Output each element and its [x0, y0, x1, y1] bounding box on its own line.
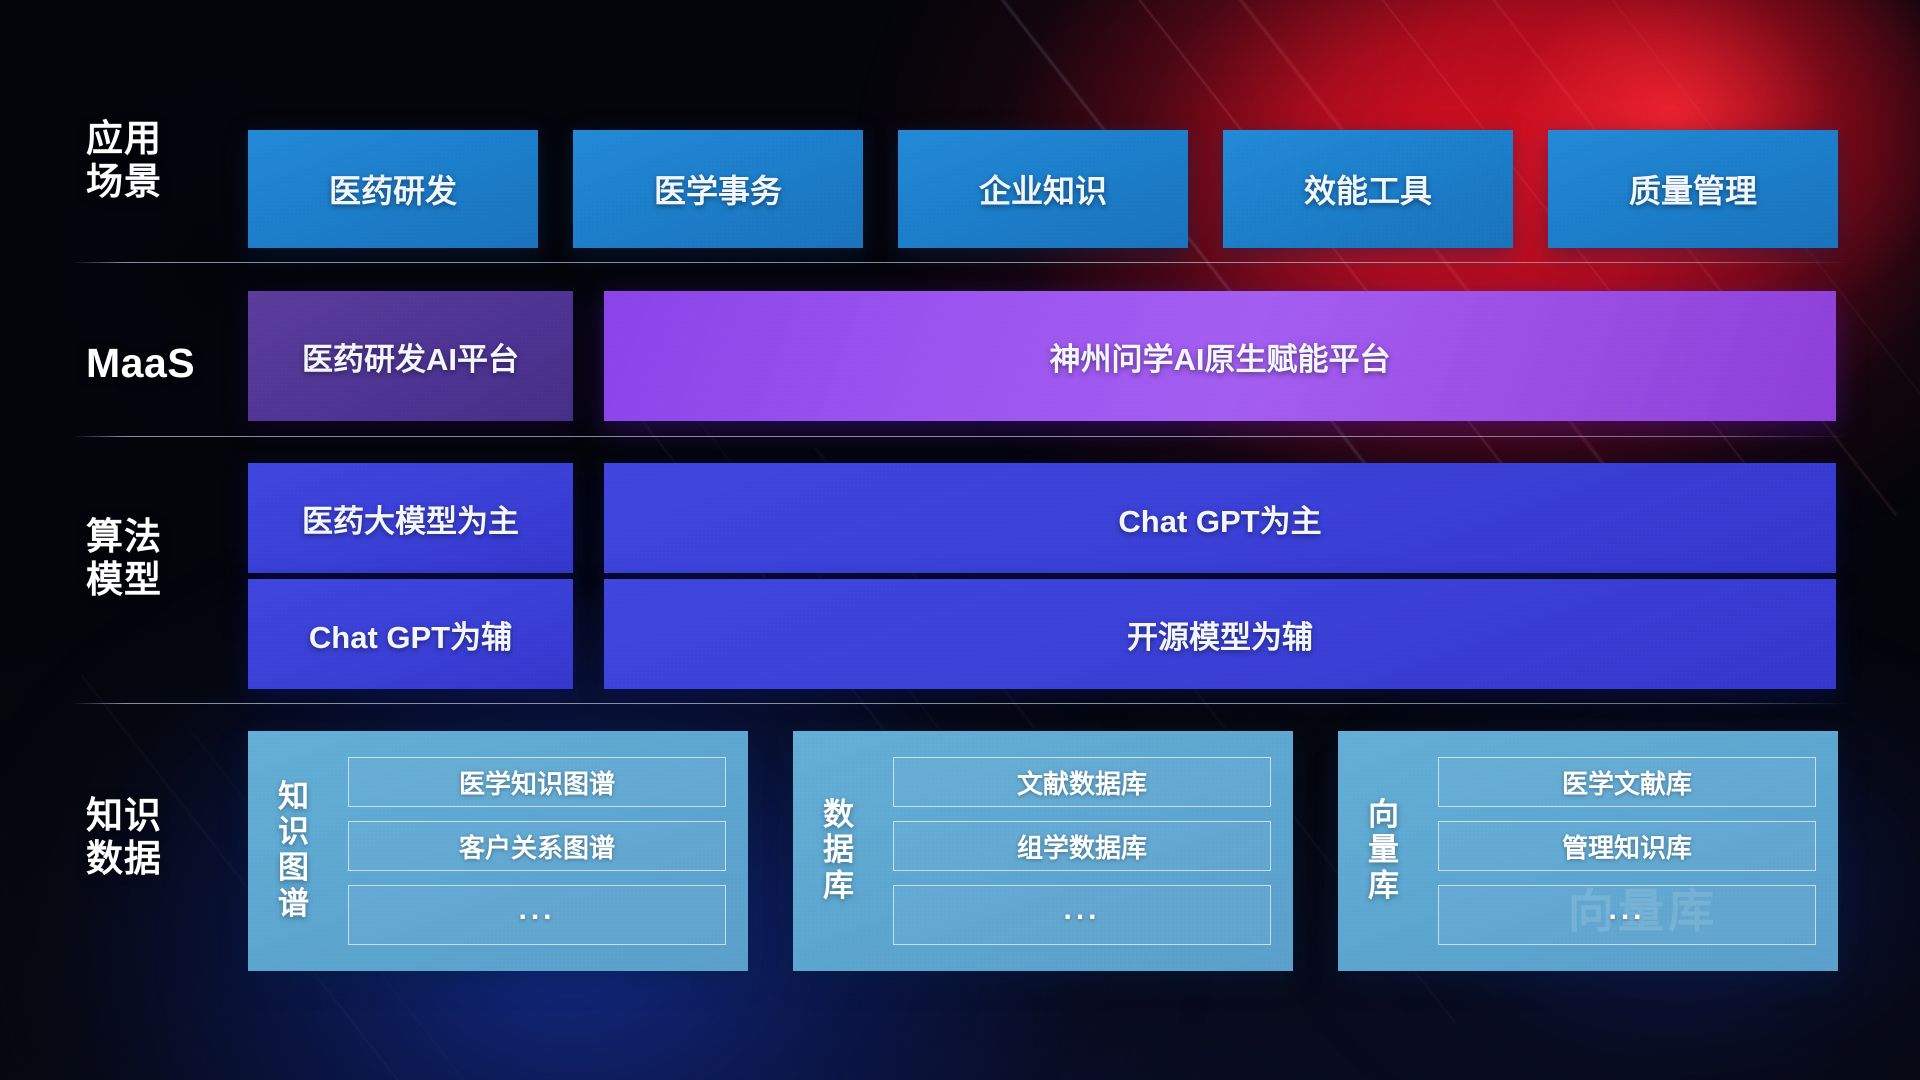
row-label-application: 应用场景	[86, 118, 246, 204]
knowledge-panel-1[interactable]: 知识图谱 医学知识图谱 客户关系图谱 ...	[248, 731, 748, 971]
knowledge-item-more[interactable]: ...	[893, 885, 1271, 945]
knowledge-panel-1-title: 知识图谱	[248, 731, 340, 971]
knowledge-item-more[interactable]: ...	[348, 885, 726, 945]
knowledge-panel-3[interactable]: 向量库 医学文献库 管理知识库 ... 向量库	[1338, 731, 1838, 971]
algo-box-r2-left[interactable]: Chat GPT为辅	[248, 579, 573, 689]
knowledge-panel-2[interactable]: 数据库 文献数据库 组学数据库 ...	[793, 731, 1293, 971]
diagram-content: 应用场景 医药研发 医学事务 企业知识 效能工具 质量管理 MaaS 医药研发A…	[0, 0, 1920, 1080]
divider-3	[72, 703, 1848, 704]
knowledge-panel-3-title: 向量库	[1338, 731, 1430, 971]
row-label-maas: MaaS	[86, 340, 246, 388]
knowledge-item[interactable]: 管理知识库	[1438, 821, 1816, 871]
app-box-4[interactable]: 效能工具	[1223, 130, 1513, 248]
row-label-algorithm: 算法模型	[86, 516, 246, 602]
maas-box-enablement-platform[interactable]: 神州问学AI原生赋能平台	[604, 291, 1836, 421]
row-label-knowledge: 知识数据	[86, 795, 246, 881]
app-box-1[interactable]: 医药研发	[248, 130, 538, 248]
knowledge-item[interactable]: 医学知识图谱	[348, 757, 726, 807]
knowledge-item[interactable]: 客户关系图谱	[348, 821, 726, 871]
knowledge-panel-3-items: 医学文献库 管理知识库 ...	[1430, 731, 1838, 971]
maas-box-platform[interactable]: 医药研发AI平台	[248, 291, 573, 421]
divider-1	[72, 262, 1848, 263]
knowledge-panel-1-items: 医学知识图谱 客户关系图谱 ...	[340, 731, 748, 971]
knowledge-item[interactable]: 文献数据库	[893, 757, 1271, 807]
app-box-5[interactable]: 质量管理	[1548, 130, 1838, 248]
knowledge-item[interactable]: 医学文献库	[1438, 757, 1816, 807]
knowledge-item[interactable]: 组学数据库	[893, 821, 1271, 871]
app-box-3[interactable]: 企业知识	[898, 130, 1188, 248]
knowledge-panel-2-title: 数据库	[793, 731, 885, 971]
algo-box-r1-right[interactable]: Chat GPT为主	[604, 463, 1836, 573]
slide-canvas: 应用场景 医药研发 医学事务 企业知识 效能工具 质量管理 MaaS 医药研发A…	[0, 0, 1920, 1080]
knowledge-item-more[interactable]: ...	[1438, 885, 1816, 945]
algo-box-r2-right[interactable]: 开源模型为辅	[604, 579, 1836, 689]
divider-2	[72, 436, 1848, 437]
algo-box-r1-left[interactable]: 医药大模型为主	[248, 463, 573, 573]
app-box-2[interactable]: 医学事务	[573, 130, 863, 248]
knowledge-panel-2-items: 文献数据库 组学数据库 ...	[885, 731, 1293, 971]
